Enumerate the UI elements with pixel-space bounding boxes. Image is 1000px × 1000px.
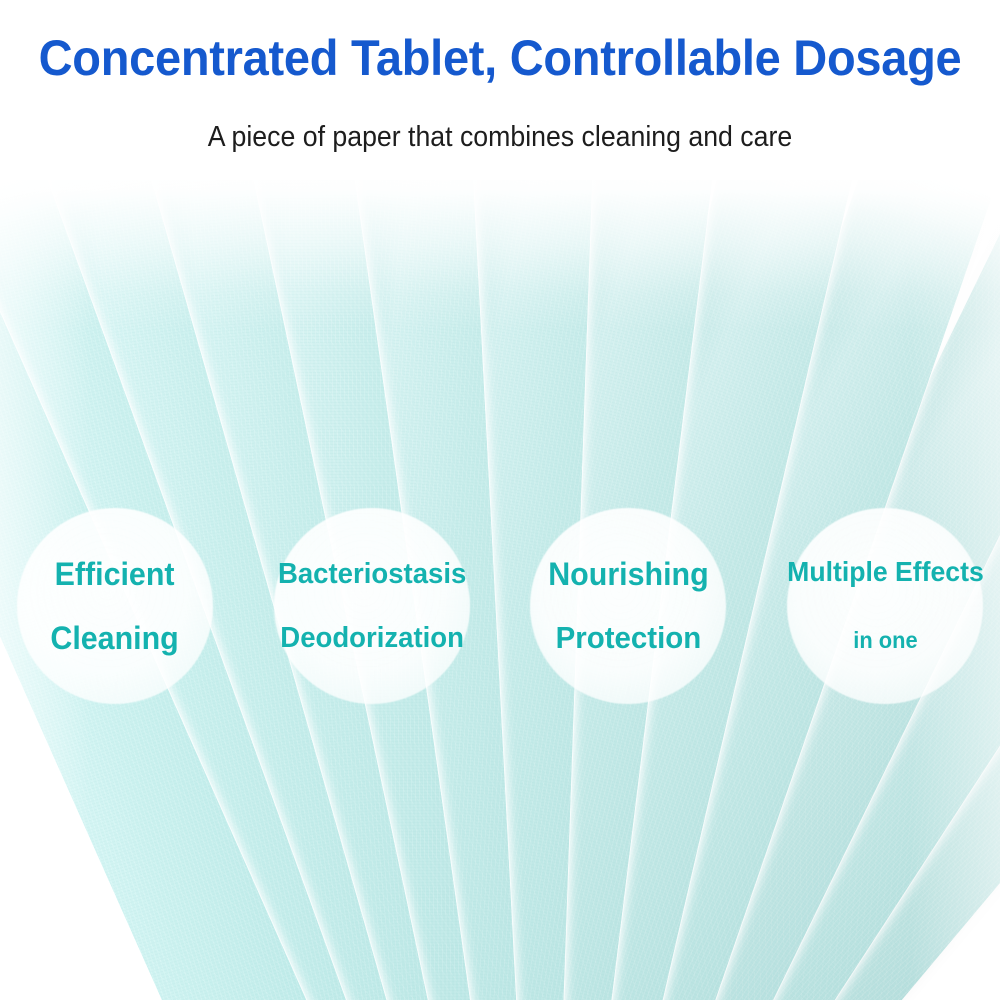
feature-badge-text: Efficient Cleaning [51,555,179,657]
feature-badge-line2: Deodorization [278,619,466,657]
feature-badge-line1: Bacteriostasis [278,555,466,593]
feature-badge-efficient-cleaning: Efficient Cleaning [17,508,213,704]
feature-badge-line1: Efficient [51,555,179,593]
feature-badge-bacteriostasis-deodorization: Bacteriostasis Deodorization [274,508,470,704]
header: Concentrated Tablet, Controllable Dosage… [0,0,1000,180]
feature-badge-line2: in one [787,621,984,659]
feature-badge-text: Bacteriostasis Deodorization [278,555,466,657]
product-feature-banner: Concentrated Tablet, Controllable Dosage… [0,0,1000,1000]
feature-badge-text: Nourishing Protection [548,555,708,657]
feature-badge-line1: Multiple Effects [787,553,984,591]
feature-badge-line2: Cleaning [51,619,179,657]
feature-badge-line1: Nourishing [548,555,708,593]
feature-badge-text: Multiple Effects in one [787,553,984,659]
page-title: Concentrated Tablet, Controllable Dosage [30,29,970,87]
page-subtitle: A piece of paper that combines cleaning … [40,119,960,155]
feature-badge-multiple-effects-in-one: Multiple Effects in one [787,508,983,704]
feature-badge-nourishing-protection: Nourishing Protection [530,508,726,704]
feature-badge-line2: Protection [548,619,708,657]
